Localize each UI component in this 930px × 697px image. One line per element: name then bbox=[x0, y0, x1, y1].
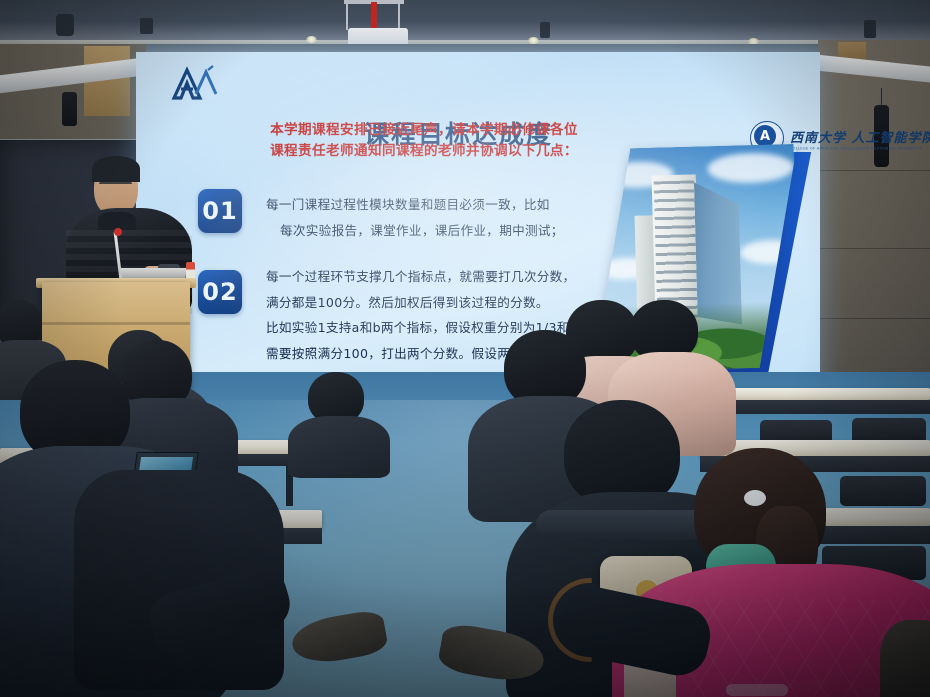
ceiling-sprinkler-icon bbox=[540, 22, 550, 38]
bullet-line: 每次实验报告，课堂作业，课后作业，期中测试； bbox=[266, 218, 564, 244]
audience-member bbox=[300, 372, 378, 462]
slide-lead-paragraph: 本学期课程安排已接近尾声，请本学期必修课各位 课程责任老师通知同课程的老师并协调… bbox=[224, 120, 624, 162]
desk-row bbox=[726, 388, 930, 400]
ceiling-sensor-icon bbox=[864, 20, 876, 38]
hair-tie-icon bbox=[744, 490, 766, 506]
university-name-cn: 西南大学 人工智能学院 bbox=[790, 127, 930, 146]
right-wall bbox=[818, 40, 930, 380]
jacket-pocket bbox=[726, 684, 788, 696]
university-name-en: COLLEGE OF ARTIFICIAL INTELLIGENCE SOUTH… bbox=[790, 146, 930, 150]
lecture-hall-photo: 课程目标达成度 A 西南大学 人工智能学院 COLLEGE OF ARTIFIC… bbox=[0, 0, 930, 697]
glasses-icon bbox=[99, 182, 132, 190]
microphone-icon bbox=[114, 228, 122, 236]
ceiling-speaker-icon bbox=[56, 14, 74, 36]
audience-member bbox=[880, 620, 930, 697]
ai-mountain-logo-icon bbox=[168, 64, 220, 102]
downlight-icon bbox=[528, 37, 539, 44]
wall-speaker-icon bbox=[62, 92, 77, 126]
bullet-number-02: 02 bbox=[198, 270, 242, 314]
lead-line: 本学期课程安排已接近尾声，请本学期必修课各位 bbox=[224, 120, 624, 141]
speaker-wire bbox=[881, 88, 882, 106]
bullet-line: 每一个过程环节支撑几个指标点，就需要打几次分数， bbox=[266, 264, 595, 290]
bullet-line: 每一门课程过程性模块数量和题目必须一致，比如 bbox=[266, 192, 564, 218]
ceiling-sensor-icon bbox=[140, 18, 153, 34]
bullet-text-01: 每一门课程过程性模块数量和题目必须一致，比如 每次实验报告，课堂作业，课后作业，… bbox=[266, 192, 564, 243]
bullet-number-01: 01 bbox=[198, 189, 242, 233]
downlight-icon bbox=[306, 36, 317, 43]
lead-line: 课程责任老师通知同课程的老师并协调以下几点： bbox=[224, 141, 624, 162]
